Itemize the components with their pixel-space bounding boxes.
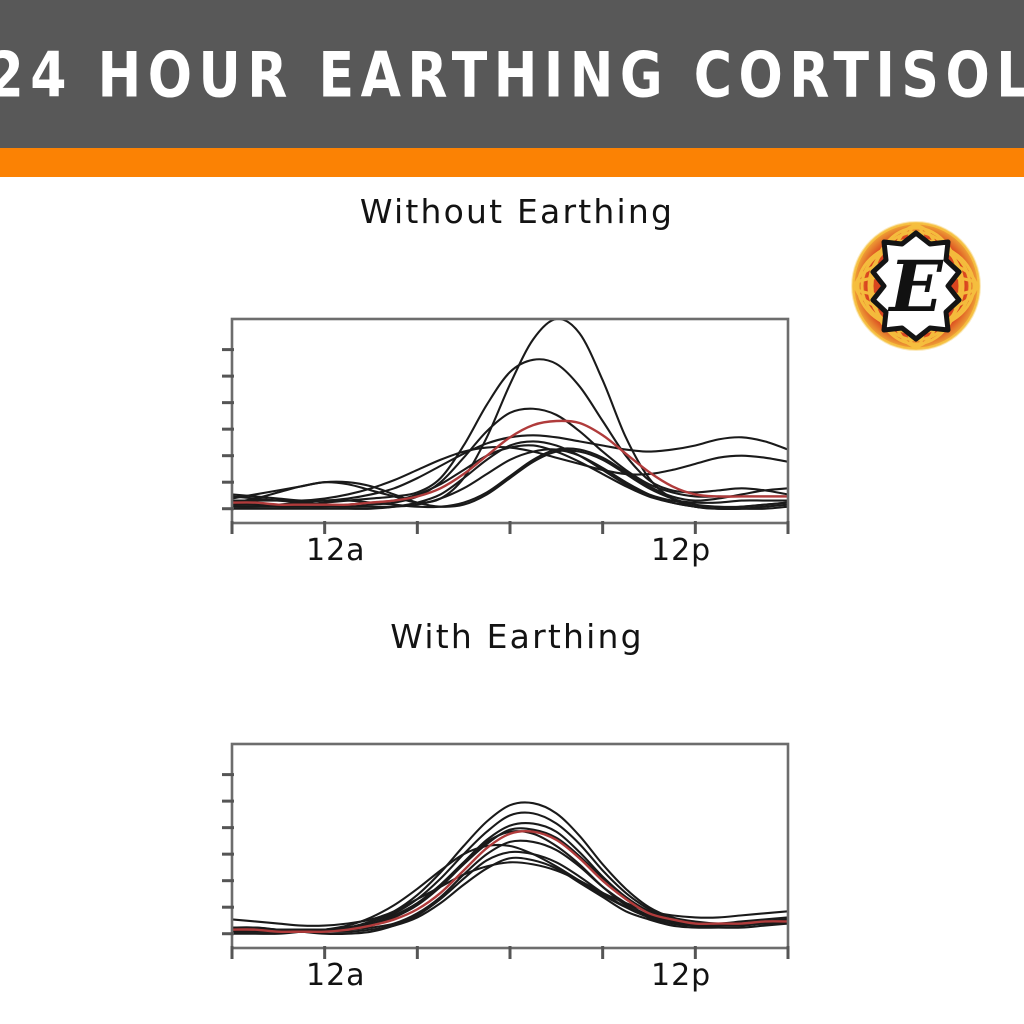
chart-canvas-without-earthing: 12a 12p <box>0 246 1024 576</box>
x-tick-label-12p-chart1: 12p <box>651 536 711 566</box>
chart-series-line <box>232 828 788 932</box>
x-tick-label-12p-chart2: 12p <box>651 961 711 991</box>
chart-without-earthing: Without Earthing 12a 12p <box>0 195 1024 576</box>
chart-plot-area-1 <box>0 671 1024 1001</box>
chart-series-line <box>232 823 788 930</box>
x-tick-label-12a-chart2: 12a <box>306 961 366 991</box>
header-bar: 24 HOUR EARTHING CORTISOL <box>0 0 1024 148</box>
chart-series-line <box>232 858 788 932</box>
chart-plot-area-0 <box>0 246 1024 576</box>
chart-series-line <box>232 862 788 926</box>
page-title: 24 HOUR EARTHING CORTISOL <box>0 40 1024 107</box>
chart-canvas-with-earthing: 12a 12p <box>0 671 1024 1001</box>
accent-bar <box>0 148 1024 177</box>
chart-title-with-earthing: With Earthing <box>0 620 1024 653</box>
x-tick-label-12a-chart1: 12a <box>306 536 366 566</box>
chart-title-without-earthing: Without Earthing <box>0 195 1024 228</box>
chart-series-line <box>232 802 788 929</box>
chart-with-earthing: With Earthing 12a 12p <box>0 620 1024 1001</box>
chart-series-line <box>232 841 788 930</box>
